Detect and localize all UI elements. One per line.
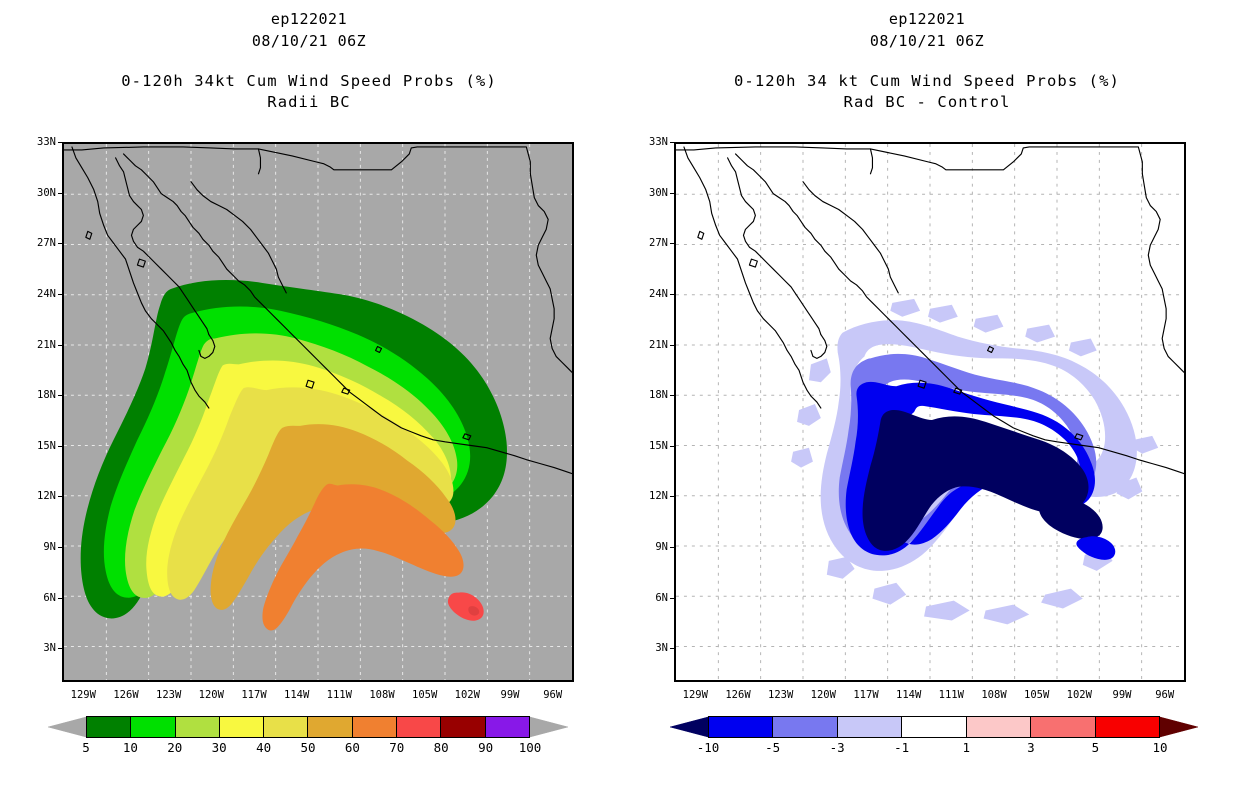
panel-right-coastlines [676, 144, 1184, 680]
ytick-left-9: 6N [43, 592, 62, 604]
ytick-right-0: 33N [649, 136, 674, 148]
xtick-left-7: 108W [369, 682, 394, 701]
colorbar-cell-minus10[interactable] [709, 717, 773, 737]
colorbar-labels-right: -10 -5 -3 -1 1 3 5 10 [670, 738, 1198, 758]
colorbar-tick-minus10: -10 [697, 740, 720, 755]
colorbar-under-cap-right [670, 716, 708, 738]
xtick-left-6: 111W [327, 682, 352, 701]
xtick-left-9: 102W [455, 682, 480, 701]
colorbar-cell-40[interactable] [264, 717, 308, 737]
panel-left-datetime: 08/10/21 06Z [0, 32, 618, 50]
xtick-right-9: 102W [1067, 682, 1092, 701]
colorbar-cell-minus3[interactable] [838, 717, 902, 737]
colorbar-tick-50: 50 [300, 740, 315, 755]
ytick-left-7: 12N [37, 490, 62, 502]
colorbar-tick-minus1: -1 [894, 740, 909, 755]
ytick-right-3: 24N [649, 288, 674, 300]
xtick-right-6: 111W [939, 682, 964, 701]
colorbar-cell-10[interactable] [131, 717, 175, 737]
panel-left-titleblock: ep122021 08/10/21 06Z 0-120h 34kt Cum Wi… [0, 10, 618, 111]
panel-left-plot-wrap: 33N 30N 27N 24N 21N 18N 15N 12N 9N 6N 3N… [62, 142, 574, 682]
colorbar-over-cap-right [1160, 716, 1198, 738]
panel-left-plot-area [62, 142, 574, 682]
xtick-right-2: 123W [768, 682, 793, 701]
colorbar-cell-plus5[interactable] [1096, 717, 1159, 737]
ytick-left-10: 3N [43, 642, 62, 654]
panel-right-subtitle: Rad BC - Control [618, 93, 1236, 111]
colorbar-cells-right [708, 716, 1160, 738]
xtick-right-10: 99W [1113, 682, 1132, 701]
panel-right-plot-wrap: 33N 30N 27N 24N 21N 18N 15N 12N 9N 6N 3N… [674, 142, 1186, 682]
ytick-right-2: 27N [649, 237, 674, 249]
xtick-right-3: 120W [811, 682, 836, 701]
xtick-left-4: 117W [241, 682, 266, 701]
ytick-right-1: 30N [649, 187, 674, 199]
colorbar-cell-90[interactable] [486, 717, 529, 737]
xtick-left-11: 96W [543, 682, 562, 701]
xtick-right-7: 108W [981, 682, 1006, 701]
colorbar-tick-minus3: -3 [830, 740, 845, 755]
colorbar-tick-40: 40 [256, 740, 271, 755]
ytick-right-6: 15N [649, 440, 674, 452]
ytick-left-2: 27N [37, 237, 62, 249]
colorbar-cell-minus1[interactable] [902, 717, 966, 737]
panel-radii-bc: ep122021 08/10/21 06Z 0-120h 34kt Cum Wi… [0, 0, 618, 800]
xtick-right-8: 105W [1024, 682, 1049, 701]
ytick-right-10: 3N [655, 642, 674, 654]
colorbar-cell-70[interactable] [397, 717, 441, 737]
xtick-left-5: 114W [284, 682, 309, 701]
colorbar-tick-30: 30 [212, 740, 227, 755]
ytick-left-0: 33N [37, 136, 62, 148]
xtick-right-0: 129W [683, 682, 708, 701]
panel-left-storm-id: ep122021 [0, 10, 618, 28]
colorbar-labels-left: 5 10 20 30 40 50 60 70 80 90 100 [48, 738, 568, 758]
colorbar-tick-plus3: 3 [1027, 740, 1035, 755]
colorbar-over-cap-left [530, 716, 568, 738]
figure-root: ep122021 08/10/21 06Z 0-120h 34kt Cum Wi… [0, 0, 1236, 800]
xtick-right-1: 126W [725, 682, 750, 701]
ytick-right-4: 21N [649, 339, 674, 351]
ytick-left-5: 18N [37, 389, 62, 401]
colorbar-cell-plus1[interactable] [967, 717, 1031, 737]
colorbar-under-cap-left [48, 716, 86, 738]
panel-left-coastlines [64, 144, 572, 680]
colorbar-tick-plus10: 10 [1152, 740, 1167, 755]
ytick-left-1: 30N [37, 187, 62, 199]
panel-right-datetime: 08/10/21 06Z [618, 32, 1236, 50]
colorbar-probability: 5 10 20 30 40 50 60 70 80 90 100 [48, 716, 568, 758]
colorbar-tick-80: 80 [434, 740, 449, 755]
colorbar-tick-70: 70 [389, 740, 404, 755]
colorbar-cell-60[interactable] [353, 717, 397, 737]
ytick-right-9: 6N [655, 592, 674, 604]
xtick-left-1: 126W [113, 682, 138, 701]
panel-right-titleblock: ep122021 08/10/21 06Z 0-120h 34 kt Cum W… [618, 10, 1236, 111]
colorbar-difference: -10 -5 -3 -1 1 3 5 10 [670, 716, 1198, 758]
panel-rad-bc-minus-control: ep122021 08/10/21 06Z 0-120h 34 kt Cum W… [618, 0, 1236, 800]
colorbar-cells-left [86, 716, 530, 738]
colorbar-cell-80[interactable] [441, 717, 485, 737]
panel-right-plot-area [674, 142, 1186, 682]
xtick-left-3: 120W [199, 682, 224, 701]
panel-left-title: 0-120h 34kt Cum Wind Speed Probs (%) [0, 72, 618, 90]
panel-right-title: 0-120h 34 kt Cum Wind Speed Probs (%) [618, 72, 1236, 90]
ytick-left-8: 9N [43, 541, 62, 553]
colorbar-tick-minus5: -5 [765, 740, 780, 755]
xtick-right-11: 96W [1155, 682, 1174, 701]
ytick-right-7: 12N [649, 490, 674, 502]
colorbar-tick-90: 90 [478, 740, 493, 755]
ytick-left-6: 15N [37, 440, 62, 452]
colorbar-tick-10: 10 [123, 740, 138, 755]
panel-left-subtitle: Radii BC [0, 93, 618, 111]
colorbar-cell-20[interactable] [176, 717, 220, 737]
colorbar-tick-plus1: 1 [963, 740, 971, 755]
xtick-right-4: 117W [853, 682, 878, 701]
xtick-right-5: 114W [896, 682, 921, 701]
ytick-left-3: 24N [37, 288, 62, 300]
colorbar-cell-minus5[interactable] [773, 717, 837, 737]
colorbar-tick-plus5: 5 [1092, 740, 1100, 755]
colorbar-tick-5: 5 [82, 740, 90, 755]
colorbar-cell-50[interactable] [308, 717, 352, 737]
ytick-right-8: 9N [655, 541, 674, 553]
panel-right-storm-id: ep122021 [618, 10, 1236, 28]
xtick-left-2: 123W [156, 682, 181, 701]
ytick-right-5: 18N [649, 389, 674, 401]
colorbar-tick-20: 20 [167, 740, 182, 755]
colorbar-cell-30[interactable] [220, 717, 264, 737]
xtick-left-8: 105W [412, 682, 437, 701]
ytick-left-4: 21N [37, 339, 62, 351]
xtick-left-0: 129W [71, 682, 96, 701]
colorbar-tick-60: 60 [345, 740, 360, 755]
xtick-left-10: 99W [501, 682, 520, 701]
colorbar-tick-100: 100 [519, 740, 542, 755]
colorbar-cell-5[interactable] [87, 717, 131, 737]
colorbar-cell-plus3[interactable] [1031, 717, 1095, 737]
